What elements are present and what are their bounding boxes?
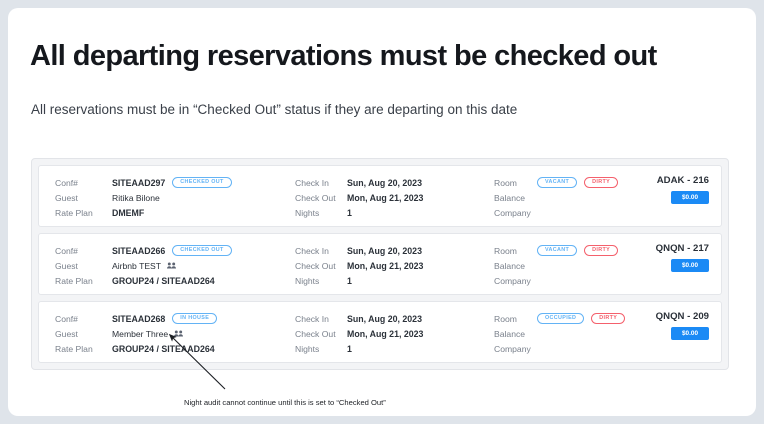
company-label: Company <box>494 208 530 218</box>
check-in-value: Sun, Aug 20, 2023 <box>347 246 422 256</box>
status-badge: CHECKED OUT <box>172 177 231 188</box>
reservation-details-column: Conf# SITEAAD268 IN HOUSE Guest Member T… <box>55 311 300 357</box>
reservation-card[interactable]: Conf# SITEAAD266 CHECKED OUT Guest Airbn… <box>38 233 722 295</box>
nights-label: Nights <box>295 344 347 354</box>
conf-label: Conf# <box>55 246 112 256</box>
check-out-row: Check Out Mon, Aug 21, 2023 <box>295 258 495 273</box>
reservation-room-column: Room VACANT DIRTY Balance Company QNQN -… <box>494 243 709 289</box>
page-subtitle: All reservations must be in “Checked Out… <box>31 102 517 117</box>
company-label: Company <box>494 344 530 354</box>
reservation-list-panel: Conf# SITEAAD297 CHECKED OUT Guest Ritik… <box>31 158 729 370</box>
conf-label: Conf# <box>55 178 112 188</box>
conf-value: SITEAAD266 <box>112 246 165 256</box>
rate-plan-label: Rate Plan <box>55 208 112 218</box>
balance-label: Balance <box>494 193 530 203</box>
balance-button[interactable]: $0.00 <box>671 327 709 340</box>
room-clean-badge: DIRTY <box>584 245 618 256</box>
balance-button[interactable]: $0.00 <box>671 191 709 204</box>
company-label: Company <box>494 276 530 286</box>
check-out-label: Check Out <box>295 329 347 339</box>
company-row: Company <box>494 341 709 356</box>
room-status-badge: VACANT <box>537 245 577 256</box>
guest-value: Ritika Bilone <box>112 193 160 203</box>
guest-value: Airbnb TEST <box>112 261 161 271</box>
room-status-badge: OCCUPIED <box>537 313 584 324</box>
annotation-text: Night audit cannot continue until this i… <box>184 398 386 407</box>
room-clean-badge: DIRTY <box>584 177 618 188</box>
room-clean-badge: DIRTY <box>591 313 625 324</box>
check-out-row: Check Out Mon, Aug 21, 2023 <box>295 326 495 341</box>
check-out-label: Check Out <box>295 261 347 271</box>
check-out-value: Mon, Aug 21, 2023 <box>347 261 423 271</box>
room-status-badge: VACANT <box>537 177 577 188</box>
rate-plan-row: Rate Plan GROUP24 / SITEAAD264 <box>55 273 300 288</box>
check-out-label: Check Out <box>295 193 347 203</box>
group-guest-icon <box>167 262 176 269</box>
nights-label: Nights <box>295 208 347 218</box>
nights-row: Nights 1 <box>295 205 495 220</box>
slide-canvas: All departing reservations must be check… <box>8 8 756 416</box>
conf-value: SITEAAD297 <box>112 178 165 188</box>
reservation-dates-column: Check In Sun, Aug 20, 2023 Check Out Mon… <box>295 243 495 289</box>
balance-label: Balance <box>494 329 530 339</box>
nights-row: Nights 1 <box>295 341 495 356</box>
rate-plan-value: GROUP24 / SITEAAD264 <box>112 276 215 286</box>
reservation-card[interactable]: Conf# SITEAAD297 CHECKED OUT Guest Ritik… <box>38 165 722 227</box>
guest-label: Guest <box>55 193 112 203</box>
balance-button[interactable]: $0.00 <box>671 259 709 272</box>
status-badge: CHECKED OUT <box>172 245 231 256</box>
check-in-row: Check In Sun, Aug 20, 2023 <box>295 175 495 190</box>
conf-row: Conf# SITEAAD297 CHECKED OUT <box>55 175 300 190</box>
rate-plan-row: Rate Plan GROUP24 / SITEAAD264 <box>55 341 300 356</box>
reservation-room-column: Room OCCUPIED DIRTY Balance Company QNQN… <box>494 311 709 357</box>
check-in-row: Check In Sun, Aug 20, 2023 <box>295 311 495 326</box>
rate-plan-label: Rate Plan <box>55 276 112 286</box>
nights-row: Nights 1 <box>295 273 495 288</box>
check-in-value: Sun, Aug 20, 2023 <box>347 314 422 324</box>
reservation-card[interactable]: Conf# SITEAAD268 IN HOUSE Guest Member T… <box>38 301 722 363</box>
guest-value: Member Three <box>112 329 168 339</box>
nights-value: 1 <box>347 276 352 286</box>
room-label: Room <box>494 314 530 324</box>
group-guest-icon <box>174 330 183 337</box>
guest-row: Guest Airbnb TEST <box>55 258 300 273</box>
room-label: Room <box>494 178 530 188</box>
room-code: ADAK - 216 <box>657 175 709 186</box>
check-out-row: Check Out Mon, Aug 21, 2023 <box>295 190 495 205</box>
page-title: All departing reservations must be check… <box>30 40 657 73</box>
balance-label: Balance <box>494 261 530 271</box>
guest-label: Guest <box>55 329 112 339</box>
check-in-row: Check In Sun, Aug 20, 2023 <box>295 243 495 258</box>
reservation-room-column: Room VACANT DIRTY Balance Company ADAK -… <box>494 175 709 221</box>
room-code: QNQN - 217 <box>656 243 709 254</box>
guest-label: Guest <box>55 261 112 271</box>
check-in-value: Sun, Aug 20, 2023 <box>347 178 422 188</box>
check-out-value: Mon, Aug 21, 2023 <box>347 193 423 203</box>
reservation-details-column: Conf# SITEAAD297 CHECKED OUT Guest Ritik… <box>55 175 300 221</box>
nights-value: 1 <box>347 208 352 218</box>
check-in-label: Check In <box>295 246 347 256</box>
check-in-label: Check In <box>295 314 347 324</box>
company-row: Company <box>494 205 709 220</box>
reservation-dates-column: Check In Sun, Aug 20, 2023 Check Out Mon… <box>295 311 495 357</box>
guest-row: Guest Ritika Bilone <box>55 190 300 205</box>
nights-value: 1 <box>347 344 352 354</box>
room-label: Room <box>494 246 530 256</box>
check-out-value: Mon, Aug 21, 2023 <box>347 329 423 339</box>
check-in-label: Check In <box>295 178 347 188</box>
status-badge: IN HOUSE <box>172 313 217 324</box>
nights-label: Nights <box>295 276 347 286</box>
conf-label: Conf# <box>55 314 112 324</box>
reservation-dates-column: Check In Sun, Aug 20, 2023 Check Out Mon… <box>295 175 495 221</box>
conf-row: Conf# SITEAAD266 CHECKED OUT <box>55 243 300 258</box>
room-code: QNQN - 209 <box>656 311 709 322</box>
conf-value: SITEAAD268 <box>112 314 165 324</box>
conf-row: Conf# SITEAAD268 IN HOUSE <box>55 311 300 326</box>
reservation-details-column: Conf# SITEAAD266 CHECKED OUT Guest Airbn… <box>55 243 300 289</box>
rate-plan-label: Rate Plan <box>55 344 112 354</box>
guest-row: Guest Member Three <box>55 326 300 341</box>
rate-plan-row: Rate Plan DMEMF <box>55 205 300 220</box>
company-row: Company <box>494 273 709 288</box>
rate-plan-value: GROUP24 / SITEAAD264 <box>112 344 215 354</box>
rate-plan-value: DMEMF <box>112 208 144 218</box>
